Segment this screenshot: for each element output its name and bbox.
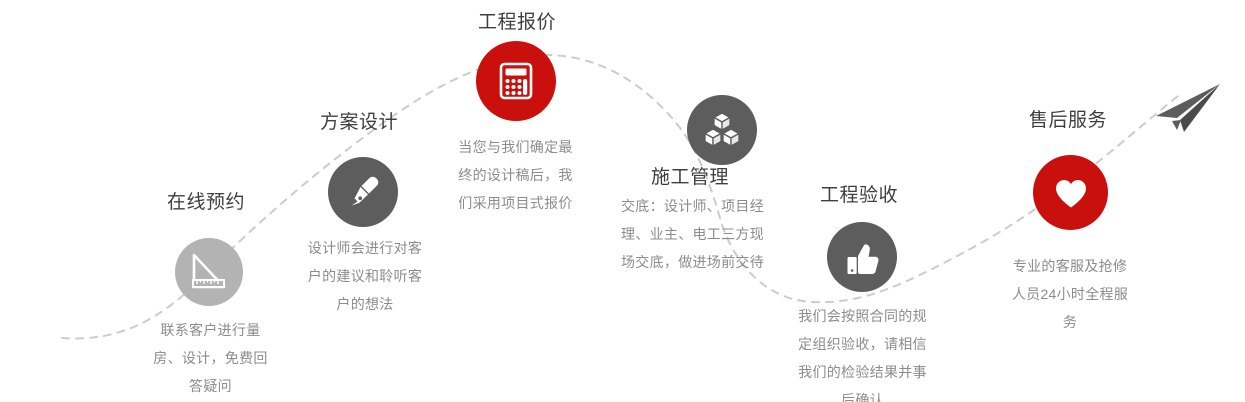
fountain-pen-icon — [343, 172, 383, 212]
step-2-desc-line-1: 设计师会进行对客 — [290, 234, 440, 262]
step-6-description: 专业的客服及抢修 人员24小时全程服 务 — [1000, 252, 1140, 336]
step-1-description: 联系客户进行量 房、设计，免费回 答疑问 — [138, 316, 283, 400]
step-6-title: 售后服务 — [1029, 110, 1107, 132]
step-6-icon-circle — [1033, 155, 1108, 230]
step-4-icon-circle — [687, 95, 757, 165]
step-3-desc-line-3: 们采用项目式报价 — [448, 189, 583, 217]
step-4-description: 交底：设计师、项目经 理、业主、电工三方现 场交底，做进场前交待 — [605, 192, 780, 276]
step-1-desc-line-1: 联系客户进行量 — [138, 316, 283, 344]
step-6-desc-line-3: 务 — [1000, 308, 1140, 336]
step-1-title: 在线预约 — [167, 192, 245, 214]
step-2-icon-circle — [328, 157, 398, 227]
step-4-desc-line-2: 理、业主、电工三方现 — [605, 220, 780, 248]
step-2-desc-line-3: 户的想法 — [290, 290, 440, 318]
step-3-title: 工程报价 — [478, 12, 556, 34]
step-5-icon-circle — [827, 222, 897, 292]
step-3-icon-circle — [476, 41, 556, 121]
calculator-icon — [493, 58, 539, 104]
step-6-desc-line-1: 专业的客服及抢修 — [1000, 252, 1140, 280]
step-1-desc-line-3: 答疑问 — [138, 372, 283, 400]
step-5-desc-line-4: 后确认 — [775, 386, 950, 402]
step-6-desc-line-2: 人员24小时全程服 — [1000, 280, 1140, 308]
step-2-title: 方案设计 — [320, 112, 398, 134]
thumbs-up-icon — [841, 236, 883, 278]
step-5-description: 我们会按照合同的规 定组织验收，请相信 我们的检验结果并事 后确认 — [775, 302, 950, 402]
step-4-desc-line-3: 场交底，做进场前交待 — [605, 248, 780, 276]
paper-plane-glyph — [1150, 82, 1222, 134]
cubes-icon — [701, 109, 743, 151]
step-3-desc-line-2: 终的设计稿后，我 — [448, 161, 583, 189]
triangle-ruler-icon — [188, 251, 230, 293]
step-5-title: 工程验收 — [820, 185, 898, 207]
step-3-description: 当您与我们确定最 终的设计稿后，我 们采用项目式报价 — [448, 133, 583, 217]
step-1-desc-line-2: 房、设计，免费回 — [138, 344, 283, 372]
heart-icon — [1049, 171, 1093, 215]
step-5-desc-line-2: 定组织验收，请相信 — [775, 330, 950, 358]
step-5-desc-line-1: 我们会按照合同的规 — [775, 302, 950, 330]
process-timeline-graphic: 在线预约 联系客户进行量 房、设计，免费回 答疑问 — [0, 0, 1245, 402]
step-2-desc-line-2: 户的建议和聆听客 — [290, 262, 440, 290]
step-3-desc-line-1: 当您与我们确定最 — [448, 133, 583, 161]
step-1-icon-circle — [175, 238, 243, 306]
step-2-description: 设计师会进行对客 户的建议和聆听客 户的想法 — [290, 234, 440, 318]
paper-plane-icon — [1150, 82, 1222, 134]
step-4-desc-line-1: 交底：设计师、项目经 — [605, 192, 780, 220]
step-4-title: 施工管理 — [651, 167, 729, 189]
step-5-desc-line-3: 我们的检验结果并事 — [775, 358, 950, 386]
